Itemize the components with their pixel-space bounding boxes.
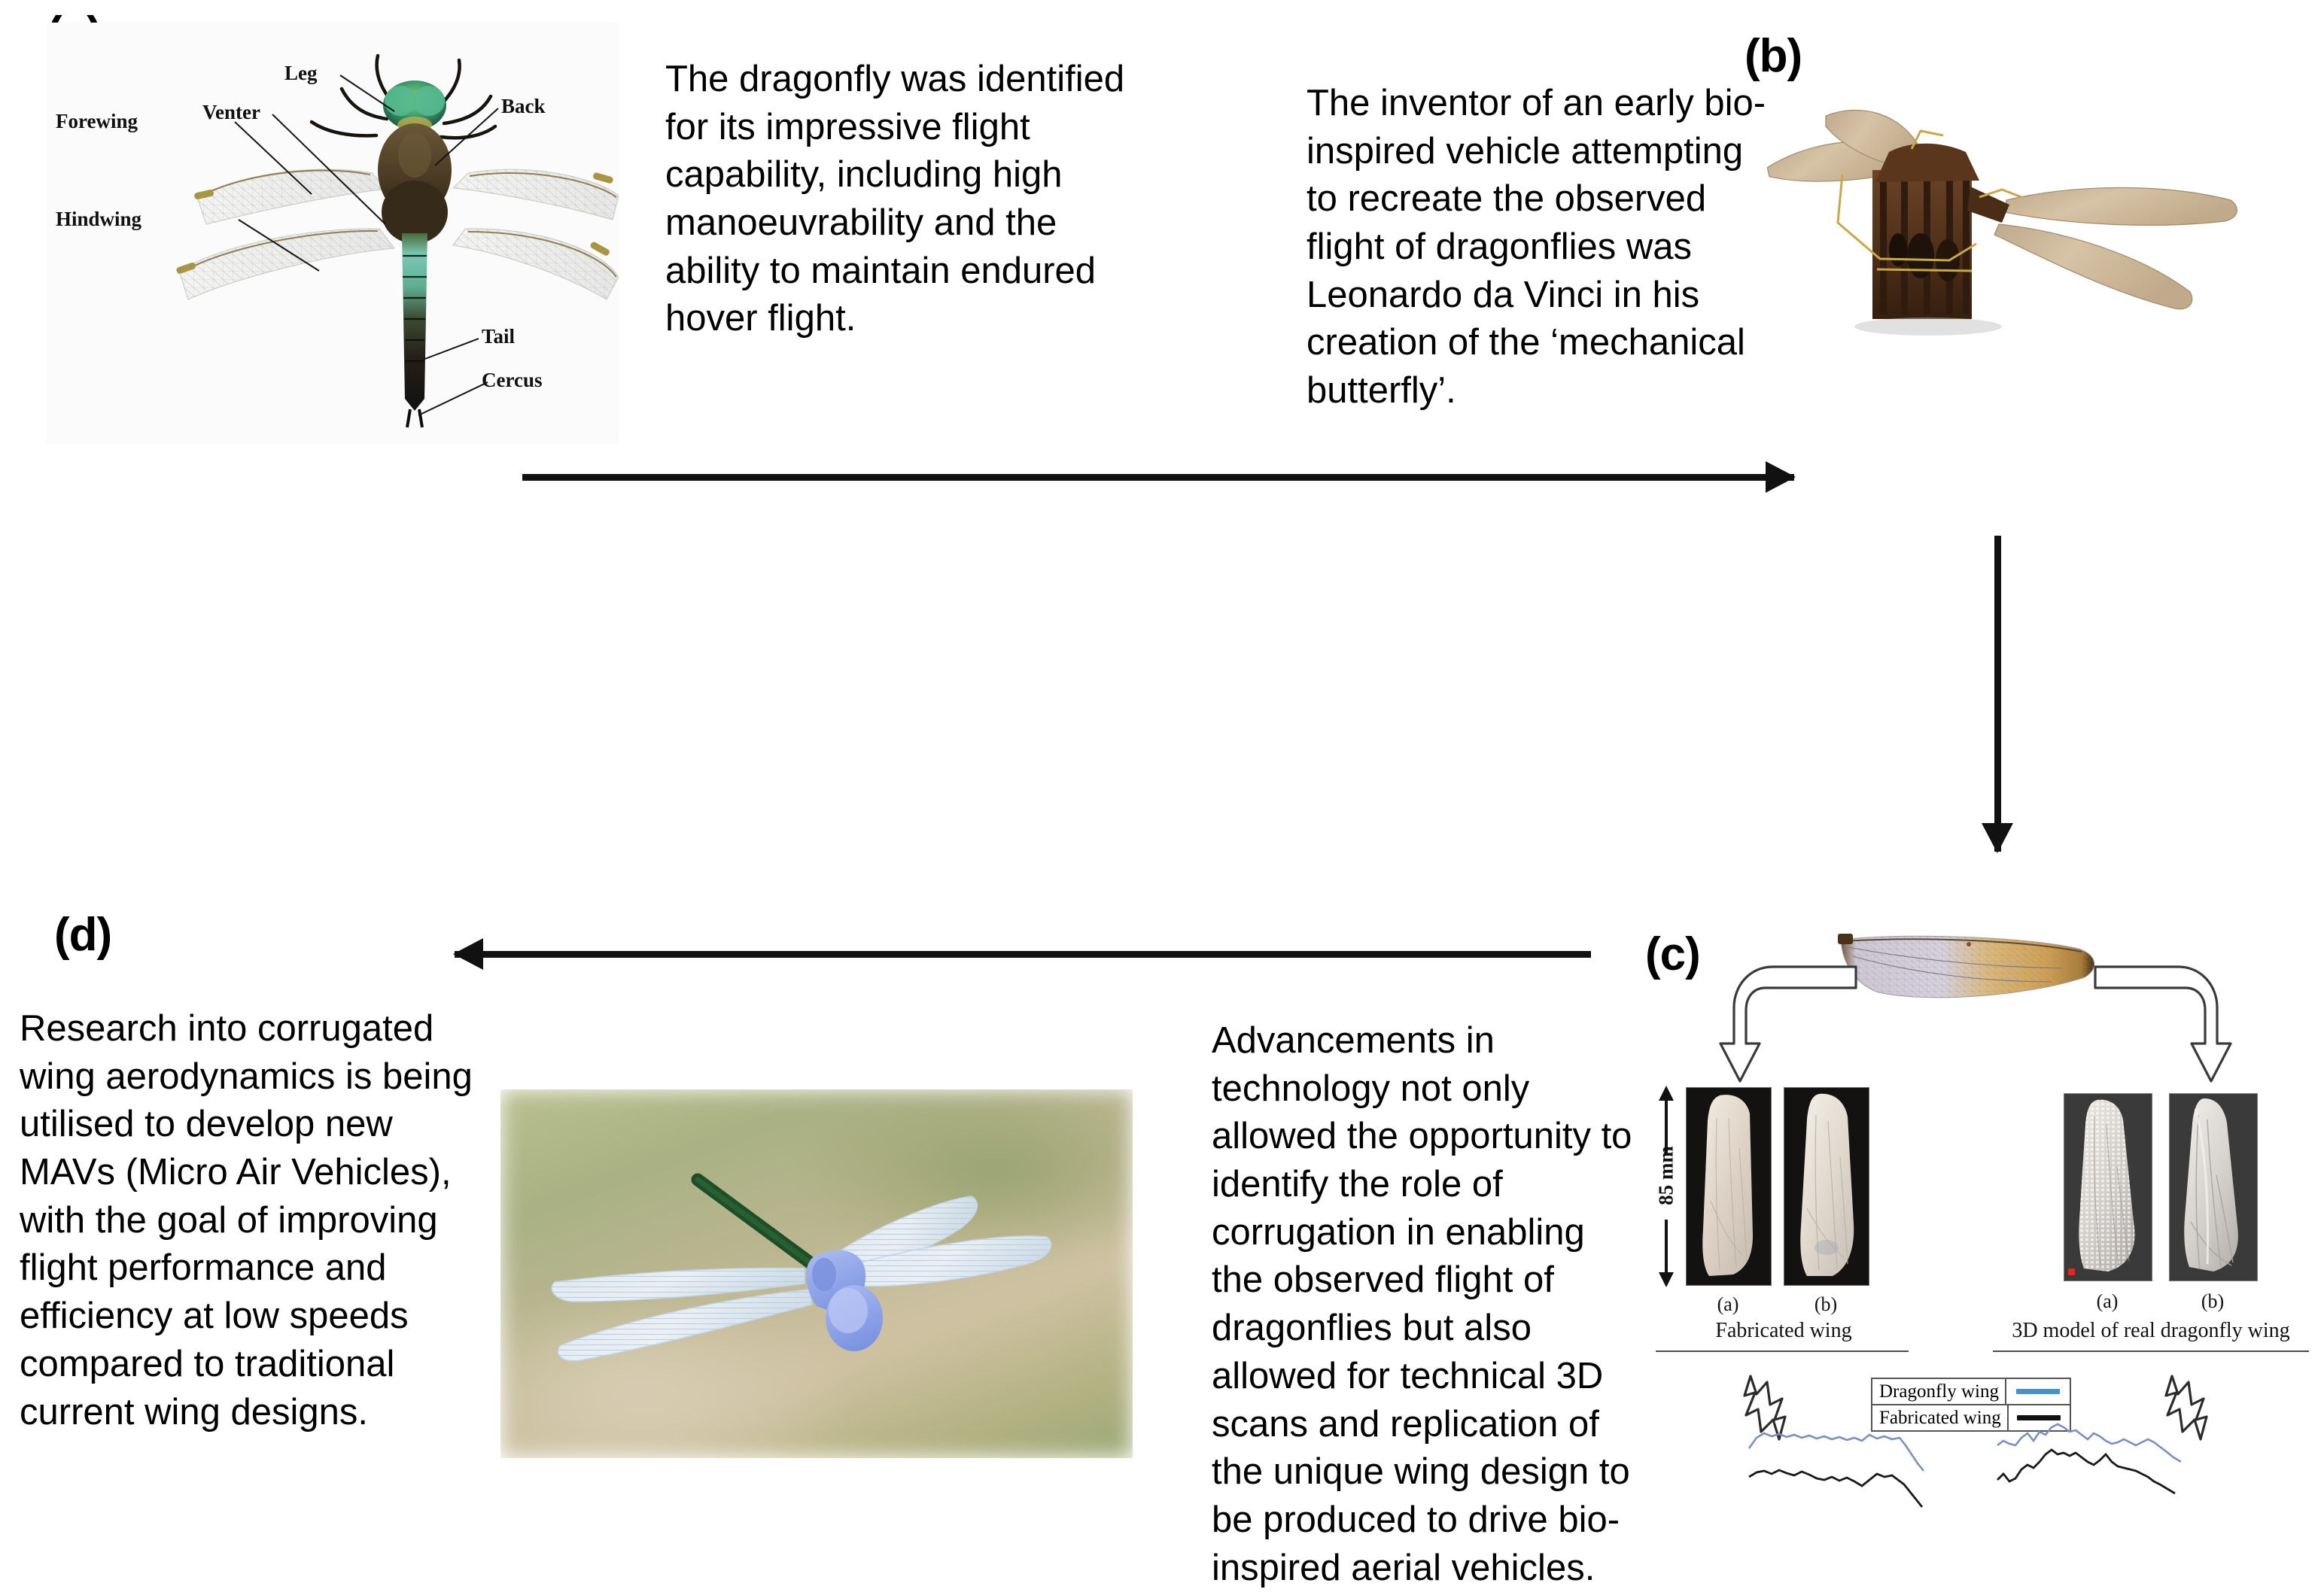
legend-label-dragonfly-wing: Dragonfly wing: [1872, 1379, 2006, 1404]
panel-c-text: Advancements in technology not only allo…: [1212, 1017, 1633, 1592]
arrow-head-right: [1766, 461, 1796, 493]
legend-row-dragonfly-wing: Dragonfly wing: [1872, 1379, 2070, 1404]
scan-wing-sublabel-a: (a): [2064, 1290, 2151, 1313]
panel-d-text: Research into corrugated wing aerodynami…: [20, 1005, 480, 1436]
annotation-hindwing: Hindwing: [56, 208, 141, 231]
legend-swatch-dragonfly-wing: [2016, 1389, 2060, 1394]
legend-swatch-wrap: [2006, 1389, 2070, 1394]
dragonfly-specimen-image: Forewing Hindwing Leg Venter Back Tail C…: [47, 23, 619, 444]
annotation-forewing: Forewing: [56, 110, 138, 133]
mav-photo: [500, 1089, 1133, 1458]
panel-b-label: (b): [1745, 33, 1802, 80]
fabricated-wing-photo-b: [1784, 1087, 1869, 1286]
annotation-tail: Tail: [482, 325, 515, 348]
panel-c-composite: 85 mm (a): [1641, 922, 2318, 1531]
panel-b-text: The inventor of an early bio-inspired ve…: [1306, 80, 1773, 415]
arrow-head-left: [453, 938, 483, 970]
scan-wing-group-rule: [1993, 1350, 2309, 1352]
annotation-cercus: Cercus: [482, 369, 543, 392]
annotation-venter: Venter: [202, 101, 260, 124]
scale-bar-85mm: 85 mm: [1651, 1086, 1681, 1287]
mav-illustration: [500, 1089, 1133, 1458]
fabricated-wing-group-caption: Fabricated wing: [1656, 1319, 1912, 1343]
fabricated-wing-sublabel-a: (a): [1686, 1293, 1770, 1316]
arrow-shaft: [455, 951, 1591, 958]
block-arrow-to-3d-model: [2092, 961, 2235, 1092]
corrugation-profile-right: [1994, 1415, 2205, 1513]
dragonfly-wing-specimen: [1836, 925, 2115, 1022]
annotation-leg: Leg: [284, 62, 318, 85]
arrow-shaft: [1994, 536, 2001, 852]
mechanical-butterfly-image: [1754, 83, 2280, 361]
arrow-head-down: [1982, 823, 2013, 853]
annotation-back: Back: [501, 95, 546, 118]
scale-label: 85 mm: [1655, 1144, 1678, 1208]
wing-specimen-illustration: [1836, 925, 2115, 1022]
scan-wing-group-caption: 3D model of real dragonfly wing: [1993, 1319, 2309, 1343]
arrow-shaft: [522, 474, 1794, 481]
panel-a-text: The dragonfly was identified for its imp…: [665, 56, 1154, 343]
panel-d-label: (d): [54, 912, 111, 959]
mechanical-butterfly-illustration: [1754, 83, 2280, 361]
fabricated-wing-sublabel-b: (b): [1784, 1293, 1868, 1316]
block-arrow-to-fabricated: [1716, 961, 1859, 1092]
scan-wing-photo-b: [2169, 1093, 2258, 1281]
fabricated-wing-group-rule: [1656, 1350, 1909, 1352]
scan-wing-sublabel-b: (b): [2169, 1290, 2256, 1313]
scan-wing-photo-a: [2064, 1093, 2152, 1281]
corrugation-profile-left: [1746, 1424, 1949, 1515]
fabricated-wing-photo-a: [1686, 1087, 1772, 1286]
